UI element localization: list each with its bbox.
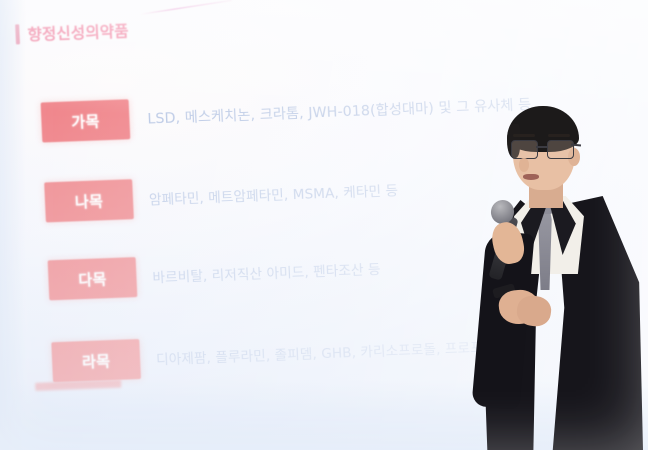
- category-chip-label: 라목: [82, 350, 111, 372]
- category-substances-text: 바르비탈, 리저직산 아미드, 펜타조산 등: [152, 258, 381, 287]
- category-substances-text: 암페타민, 메트암페타민, MSMA, 케타민 등: [149, 179, 399, 208]
- nose: [519, 158, 529, 172]
- category-chip: 라목: [51, 339, 141, 382]
- eyebrow-right: [548, 134, 570, 137]
- category-chip: 다목: [48, 257, 138, 300]
- category-chip-label: 나목: [74, 190, 103, 212]
- slide-title: 향정신성의약품: [27, 19, 129, 45]
- category-chip-label: 가목: [71, 110, 100, 132]
- category-chip: 가목: [41, 99, 131, 142]
- eyeglasses: [511, 140, 577, 158]
- category-chip: 나목: [44, 179, 134, 222]
- eyeglass-lens-left: [511, 140, 538, 159]
- presentation-photo: 향정신성의약품 가목 LSD, 메스케치논, 크라톰, JWH-018(합성대마…: [0, 0, 648, 450]
- title-accent-bar-icon: [15, 24, 20, 44]
- speaker-person: [455, 104, 648, 450]
- slide-title-group: 향정신성의약품: [15, 19, 129, 45]
- mouth: [523, 174, 539, 180]
- category-chip-label: 다목: [78, 268, 107, 290]
- title-decorative-line: [141, 0, 232, 15]
- eyeglass-bridge: [536, 146, 547, 148]
- eyeglass-lens-right: [547, 140, 574, 159]
- eyebrow-left: [513, 134, 535, 137]
